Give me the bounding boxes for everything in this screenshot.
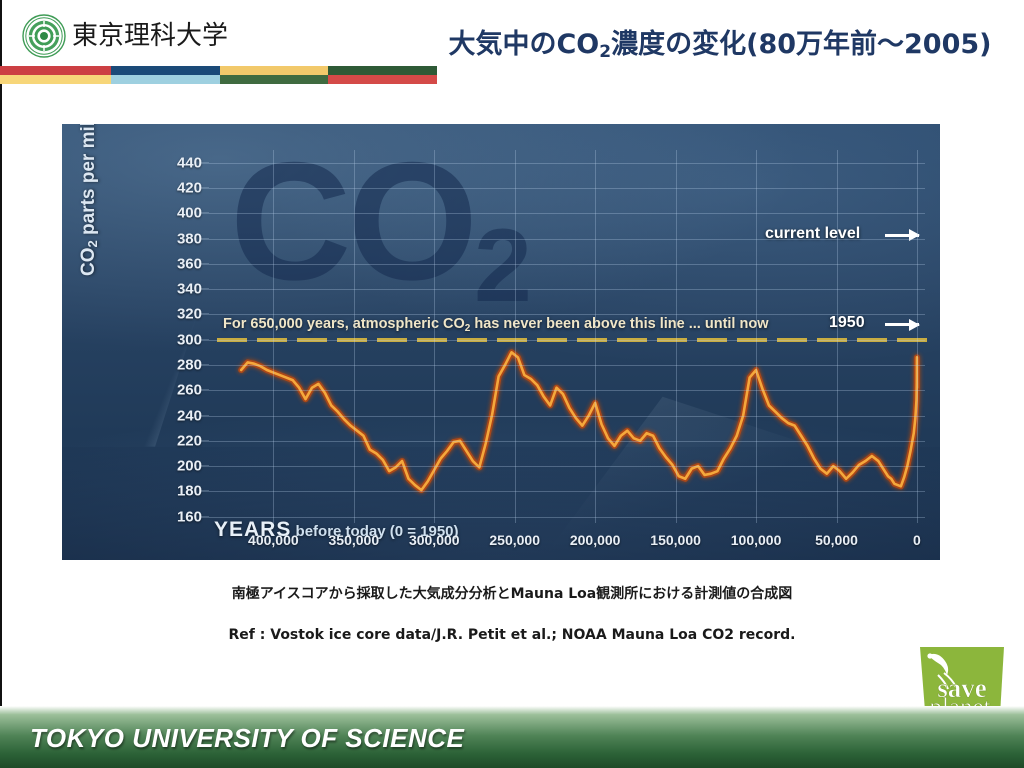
color-rule-row-top xyxy=(0,66,437,75)
y-axis-tick-label: 420 xyxy=(177,179,202,196)
gridline-vertical xyxy=(917,150,918,523)
gridline-horizontal xyxy=(209,213,925,214)
gridline-horizontal xyxy=(209,416,925,417)
y-axis-tick-mark xyxy=(201,314,209,315)
university-logo: 東京理科大学 xyxy=(22,14,228,58)
x-axis-tick-label: 150,000 xyxy=(650,532,701,548)
x-axis-tick-label: 0 xyxy=(913,532,921,548)
y-axis-tick-mark xyxy=(201,187,209,188)
color-segment-bottom-1 xyxy=(0,75,111,84)
annotation-1950: 1950 xyxy=(829,314,865,332)
color-segment-top-4 xyxy=(328,66,437,75)
y-axis-tick-mark xyxy=(201,213,209,214)
color-rule-row-bottom xyxy=(0,75,437,84)
header-color-rule xyxy=(0,66,437,84)
y-axis-tick-label: 180 xyxy=(177,483,202,500)
x-axis-tick-label: 400,000 xyxy=(248,532,299,548)
gridline-horizontal xyxy=(209,340,925,341)
left-edge-hairline xyxy=(0,0,2,768)
y-axis-tick-label: 300 xyxy=(177,331,202,348)
y-axis-tick-label: 380 xyxy=(177,230,202,247)
y-axis-tick-label: 320 xyxy=(177,306,202,323)
threshold-note-head: For 650,000 years, atmospheric CO xyxy=(223,316,465,332)
threshold-note-text: For 650,000 years, atmospheric CO2 has n… xyxy=(223,316,768,332)
threshold-note-subscript: 2 xyxy=(465,323,471,334)
y-axis-tick-mark xyxy=(201,339,209,340)
footer-university-name: TOKYO UNIVERSITY OF SCIENCE xyxy=(30,723,464,754)
annotation-current-level-arrow-icon xyxy=(885,234,919,237)
y-axis-tick-label: 340 xyxy=(177,281,202,298)
x-axis-tick-label: 100,000 xyxy=(731,532,782,548)
x-axis-tick-label: 200,000 xyxy=(570,532,621,548)
gridline-vertical xyxy=(756,150,757,523)
slide-header: 東京理科大学 大気中のCO2濃度の変化(80万年前〜2005) xyxy=(0,0,1024,70)
gridline-horizontal xyxy=(209,264,925,265)
color-segment-bottom-2 xyxy=(111,75,220,84)
gridline-vertical xyxy=(273,150,274,523)
y-axis-tick-label: 240 xyxy=(177,407,202,424)
y-axis-tick-mark xyxy=(201,390,209,391)
y-axis-tick-label: 440 xyxy=(177,154,202,171)
color-segment-top-3 xyxy=(220,66,328,75)
gridline-horizontal xyxy=(209,239,925,240)
gridline-vertical xyxy=(837,150,838,523)
color-segment-top-2 xyxy=(111,66,220,75)
gridline-horizontal xyxy=(209,491,925,492)
gridline-horizontal xyxy=(209,365,925,366)
gridline-horizontal xyxy=(209,163,925,164)
y-axis-label-tail: parts per million xyxy=(78,124,99,240)
slide: 東京理科大学 大気中のCO2濃度の変化(80万年前〜2005) CO2 xyxy=(0,0,1024,768)
gridline-vertical xyxy=(676,150,677,523)
gridline-horizontal xyxy=(209,188,925,189)
university-name-jp: 東京理科大学 xyxy=(72,23,228,49)
gridline-horizontal xyxy=(209,390,925,391)
figure-reference: Ref : Vostok ice core data/J.R. Petit et… xyxy=(0,627,1024,643)
y-axis-tick-label: 160 xyxy=(177,508,202,525)
slide-footer: TOKYO UNIVERSITY OF SCIENCE xyxy=(0,706,1024,768)
y-axis-tick-label: 280 xyxy=(177,356,202,373)
y-axis-tick-mark xyxy=(201,364,209,365)
y-axis-tick-mark xyxy=(201,466,209,467)
y-axis-label-subscript: 2 xyxy=(85,240,100,247)
chart-plot-area: For 650,000 years, atmospheric CO2 has n… xyxy=(209,150,925,523)
gridline-vertical xyxy=(434,150,435,523)
y-axis-tick-mark xyxy=(201,491,209,492)
y-axis-tick-mark xyxy=(201,516,209,517)
y-axis-tick-label: 400 xyxy=(177,205,202,222)
y-axis-tick-label: 200 xyxy=(177,458,202,475)
x-axis-tick-label: 300,000 xyxy=(409,532,460,548)
y-axis-tick-label: 260 xyxy=(177,382,202,399)
gridline-vertical xyxy=(354,150,355,523)
y-axis-label: CO2 parts per million xyxy=(78,124,100,276)
gridline-horizontal xyxy=(209,517,925,518)
y-axis-tick-mark xyxy=(201,289,209,290)
gridline-horizontal xyxy=(209,466,925,467)
annotation-1950-arrow-icon xyxy=(885,323,919,326)
gridline-horizontal xyxy=(209,289,925,290)
color-segment-bottom-3 xyxy=(220,75,328,84)
x-axis-tick-label: 250,000 xyxy=(489,532,540,548)
y-axis-tick-mark xyxy=(201,415,209,416)
page-title: 大気中のCO2濃度の変化(80万年前〜2005) xyxy=(430,22,1010,61)
y-axis-tick-label: 220 xyxy=(177,432,202,449)
figure-caption: 南極アイスコアから採取した大気成分分析とMauna Loa観測所における計測値の… xyxy=(0,583,1024,603)
gridline-horizontal xyxy=(209,314,925,315)
gridline-horizontal xyxy=(209,441,925,442)
y-axis-tick-label: 360 xyxy=(177,255,202,272)
color-segment-top-1 xyxy=(0,66,111,75)
page-title-rest: 濃度の変化(80万年前〜2005) xyxy=(611,29,991,60)
x-axis-tick-label: 350,000 xyxy=(328,532,379,548)
gridline-vertical xyxy=(515,150,516,523)
x-axis-tick-label: 50,000 xyxy=(815,532,858,548)
y-axis-label-main: CO xyxy=(78,248,99,277)
annotation-current-level: current level xyxy=(765,225,860,243)
y-axis-tick-mark xyxy=(201,162,209,163)
university-seal-icon xyxy=(22,14,66,58)
co2-chart-figure: CO2 CO2 parts per million YEARS before t… xyxy=(62,124,940,560)
y-axis-tick-mark xyxy=(201,263,209,264)
y-axis-tick-mark xyxy=(201,440,209,441)
page-title-subscript: 2 xyxy=(599,42,611,62)
page-title-main: 大気中のCO xyxy=(448,29,599,60)
y-axis-tick-mark xyxy=(201,238,209,239)
color-segment-bottom-4 xyxy=(328,75,437,84)
gridline-vertical xyxy=(595,150,596,523)
